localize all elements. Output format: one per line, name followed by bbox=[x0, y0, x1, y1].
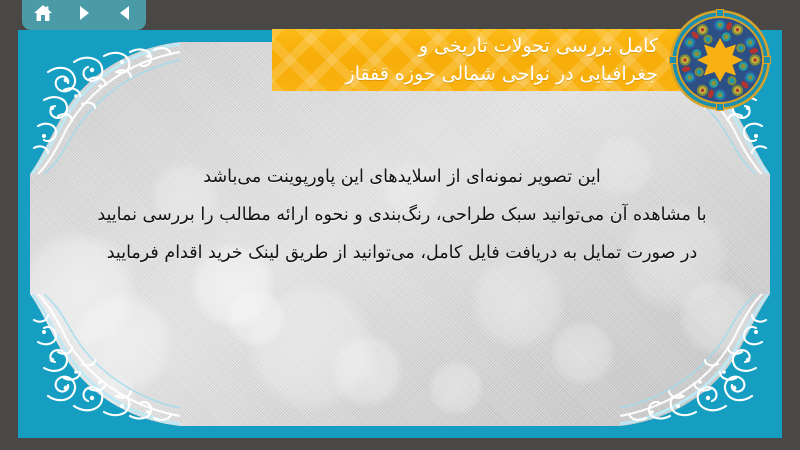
home-icon bbox=[33, 4, 53, 23]
bokeh-circle bbox=[90, 372, 136, 418]
bokeh-circle bbox=[550, 320, 616, 386]
triangle-left-icon bbox=[116, 4, 134, 22]
bokeh-circle bbox=[428, 360, 484, 416]
body-line: با مشاهده آن می‌توانید سبک طراحی، رنگ‌بن… bbox=[48, 196, 756, 234]
home-button[interactable] bbox=[28, 0, 58, 26]
bokeh-circle bbox=[226, 288, 286, 348]
slide-title-line: جغرافیایی در نواحی شمالی حوزه قفقاز bbox=[282, 60, 658, 88]
slide-viewer: این تصویر نمونه‌ای از اسلایدهای این پاور… bbox=[0, 0, 800, 450]
bokeh-circle bbox=[330, 334, 404, 408]
body-line: در صورت تمایل به دریافت فایل کامل، می‌تو… bbox=[48, 234, 756, 272]
slide-title-line: کامل بررسی تحولات تاریخی و bbox=[282, 32, 658, 60]
bokeh-circle bbox=[714, 352, 766, 404]
bokeh-circle bbox=[678, 278, 756, 356]
body-line: این تصویر نمونه‌ای از اسلایدهای این پاور… bbox=[48, 158, 756, 196]
triangle-right-icon bbox=[75, 4, 93, 22]
previous-slide-button[interactable] bbox=[110, 0, 140, 26]
persian-medallion-ornament bbox=[668, 8, 772, 112]
slide-body-text: این تصویر نمونه‌ای از اسلایدهای این پاور… bbox=[48, 158, 756, 272]
next-slide-button[interactable] bbox=[69, 0, 99, 26]
slide-title-banner: کامل بررسی تحولات تاریخی و جغرافیایی در … bbox=[272, 29, 724, 91]
navigation-toolbar bbox=[22, 0, 146, 30]
